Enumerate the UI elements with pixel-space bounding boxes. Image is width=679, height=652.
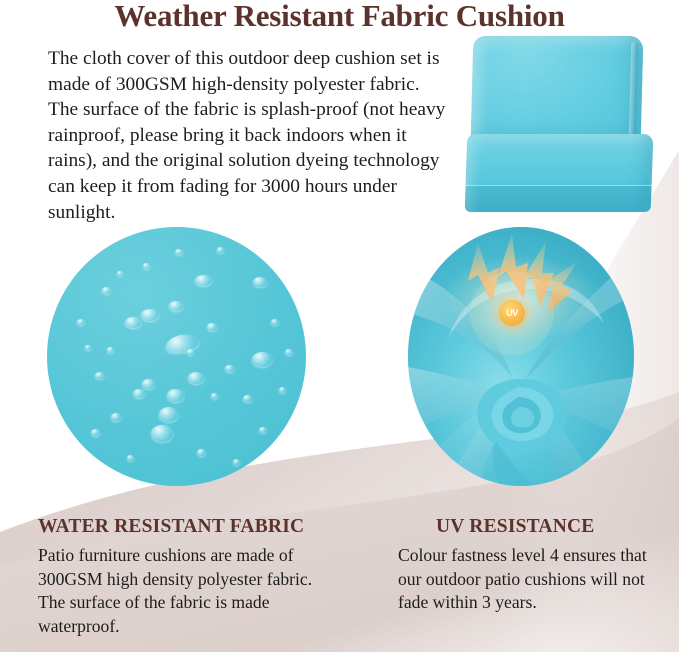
water-droplet (285, 349, 293, 355)
water-droplet (111, 413, 121, 421)
water-droplet (85, 345, 91, 350)
uv-resistance-circle-image: UV (408, 227, 634, 486)
fabric-swirl-illustration (408, 227, 634, 486)
water-droplet (117, 271, 123, 276)
water-droplet (243, 395, 252, 402)
water-droplet (271, 319, 279, 325)
water-droplet (169, 301, 183, 311)
cushion-product-image (466, 36, 666, 222)
feature-body-uv-resistance: Colour fastness level 4 ensures that our… (398, 544, 664, 615)
water-droplet (195, 275, 212, 286)
cushion-back-pillow (471, 36, 644, 144)
feature-body-water-resistant: Patio furniture cushions are made of 300… (38, 544, 338, 638)
cushion-seat-edge-band (465, 185, 652, 212)
water-droplet (187, 349, 194, 355)
water-droplet (252, 352, 272, 367)
water-droplet (125, 317, 141, 328)
page-title: Weather Resistant Fabric Cushion (0, 0, 679, 34)
water-droplet (197, 449, 206, 456)
cushion-seat-pad (465, 134, 654, 212)
water-droplet (142, 379, 155, 389)
water-droplet (151, 425, 173, 442)
uv-badge-label: UV (506, 308, 518, 318)
water-droplet (217, 247, 224, 253)
water-droplet (175, 249, 183, 255)
water-droplet (91, 429, 100, 436)
water-droplet (159, 407, 178, 422)
water-droplet (107, 347, 114, 353)
water-droplet (77, 319, 85, 325)
water-droplet (211, 393, 218, 399)
water-droplet (143, 263, 150, 269)
water-droplet (233, 459, 240, 465)
water-droplet (225, 365, 234, 372)
cushion-back-seam (629, 42, 639, 138)
water-droplet (141, 309, 159, 321)
feature-heading-water-resistant: WATER RESISTANT FABRIC (38, 516, 304, 538)
water-droplet (133, 389, 145, 398)
water-droplet (167, 389, 184, 402)
water-droplet (188, 372, 204, 384)
water-droplet (164, 332, 201, 356)
intro-paragraph: The cloth cover of this outdoor deep cus… (48, 46, 446, 225)
water-droplet (279, 387, 286, 393)
water-droplet (127, 455, 134, 461)
uv-badge: UV (499, 300, 525, 326)
water-droplet (253, 277, 267, 287)
water-resistant-circle-image (47, 227, 306, 486)
water-droplet (207, 323, 217, 331)
water-droplet (259, 427, 267, 433)
infographic-page: Weather Resistant Fabric Cushion The clo… (0, 0, 679, 652)
water-droplet (102, 287, 111, 294)
feature-heading-uv-resistance: UV RESISTANCE (436, 516, 594, 538)
water-droplet (95, 372, 104, 379)
